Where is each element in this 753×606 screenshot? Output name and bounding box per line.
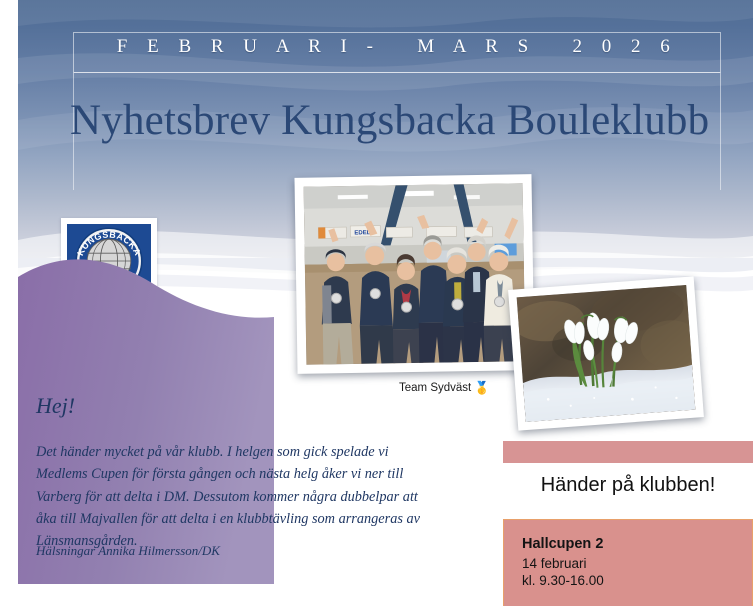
team-photo: EDEL [304, 183, 526, 364]
letter-body: Det händer mycket på vår klubb. I helgen… [36, 441, 426, 552]
team-photo-caption-text: Team Sydväst [399, 382, 471, 394]
letter-greeting: Hej! [36, 393, 75, 419]
flower-photo-frame [508, 276, 704, 430]
issue-period-label: F E B R U A R I - M A R S 2 0 2 6 [73, 36, 721, 58]
events-heading: Händer på klubben! [503, 474, 753, 497]
team-photo-caption: Team Sydväst🥇 [399, 381, 490, 396]
team-photo-frame: EDEL [294, 174, 534, 374]
event-card[interactable]: Hallcupen 2 14 februari kl. 9.30-16.00 [503, 519, 753, 606]
gold-medal-icon: 🥇 [474, 381, 490, 395]
team-photo-artwork: EDEL [304, 183, 526, 364]
newsletter-page: F E B R U A R I - M A R S 2 0 2 6 Nyhets… [0, 0, 753, 606]
letter-signoff: Hälsningar Annika Hilmersson/DK [36, 543, 220, 559]
event-name: Hallcupen 2 [522, 536, 752, 552]
event-date: 14 februari [522, 556, 752, 571]
events-accent-bar [503, 441, 753, 463]
snowdrop-photo-artwork [517, 285, 696, 422]
event-time: kl. 9.30-16.00 [522, 573, 752, 588]
flower-photo [517, 285, 696, 422]
page-title: Nyhetsbrev Kungsbacka Bouleklubb [70, 98, 753, 143]
